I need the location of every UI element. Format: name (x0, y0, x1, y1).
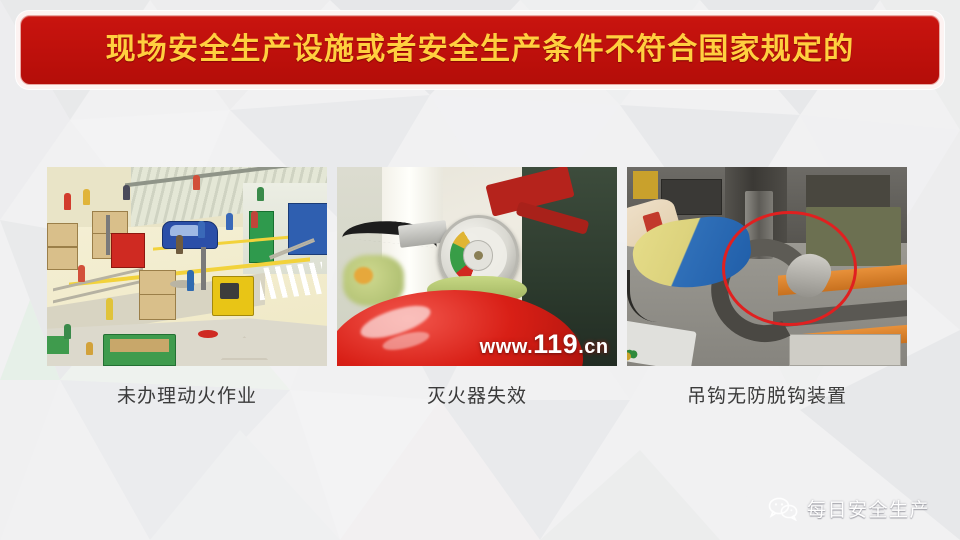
red-annotation-circle (722, 211, 856, 326)
watermark: 每日安全生产 (768, 495, 930, 522)
watermark-text: 每日安全生产 (807, 495, 930, 522)
wechat-icon (768, 497, 798, 521)
caption-item-3: 吊钩无防脱钩装置 (627, 386, 907, 409)
extinguisher-scene: www.119.cn (337, 167, 617, 366)
image-fire-extinguisher-gauge-photo: www.119.cn (337, 167, 617, 366)
photo-row: www.119.cn (47, 167, 907, 366)
yellow-forklift (212, 276, 254, 316)
caption-item-1: 未办理动火作业 (47, 386, 327, 409)
title-banner: 现场安全生产设施或者安全生产条件不符合国家规定的 (20, 15, 940, 85)
image-warehouse-safety-illustration (47, 167, 327, 366)
blue-car (162, 221, 218, 249)
crane-hook-scene (627, 167, 907, 366)
slide: 现场安全生产设施或者安全生产条件不符合国家规定的 (0, 0, 960, 540)
image-crane-hook-photo (627, 167, 907, 366)
red-forklift (111, 233, 145, 269)
title-banner-frame: 现场安全生产设施或者安全生产条件不符合国家规定的 (16, 11, 944, 89)
green-skip (103, 334, 176, 366)
caption-row: 未办理动火作业 灭火器失效 吊钩无防脱钩装置 (47, 386, 907, 409)
caption-item-2: 灭火器失效 (337, 386, 617, 409)
illustration-scene (47, 167, 327, 366)
image-watermark: www.119.cn (480, 329, 609, 360)
page-title: 现场安全生产设施或者安全生产条件不符合国家规定的 (106, 35, 855, 65)
